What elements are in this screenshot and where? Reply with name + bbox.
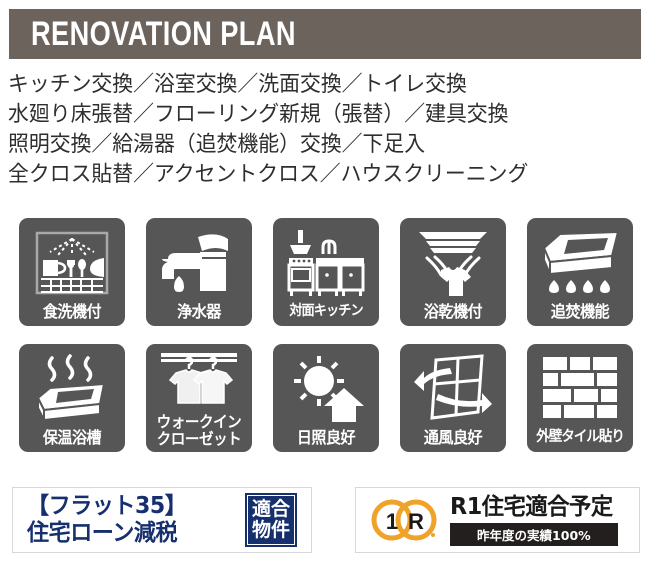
spec-line: 照明交換／給湯器（追焚機能）交換／下足入 [8,130,625,160]
exterior-tile-wall-icon [527,344,633,429]
r1-subtitle: 昨年度の実績100% [450,523,618,546]
flat35-eligible-badge: 適合 物件 [245,493,297,547]
r1-logo-icon: 1 R [370,498,442,542]
tile-label: 追焚機能 [531,303,629,326]
svg-text:R: R [408,509,424,534]
water-purifier-faucet-icon [146,218,252,303]
tile-label-line1: ウォークイン [150,414,248,431]
r1-text-block: R1住宅適合予定 昨年度の実績100% [450,494,618,546]
r1-banner: 1 R R1住宅適合予定 昨年度の実績100% [355,487,640,553]
feature-tile-exterior-wall: 外壁タイル貼り [517,344,644,452]
badge-line2: 物件 [252,520,290,541]
tile: 追焚機能 [527,218,633,326]
tile-label: 対面キッチン [277,303,375,326]
feature-tile-water-purifier: 浄水器 [135,218,262,326]
renovation-spec-list: キッチン交換／浴室交換／洗面交換／トイレ交換 水廻り床張替／フローリング新規（張… [8,70,644,190]
feature-tile-walk-in-closet: ウォークイン クローゼット [135,344,262,452]
tile: 日照良好 [273,344,379,452]
tile: 対面キッチン [273,218,379,326]
tile-label: ウォークイン クローゼット [150,414,248,452]
tile-label: 外壁タイル貼り [531,429,629,452]
page-title: RENOVATION PLAN [31,15,296,54]
bathtub-reheat-icon [527,218,633,303]
tile: 食洗機付 [19,218,125,326]
feature-icon-row: 食洗機付 浄水器 [8,218,644,326]
spec-line: キッチン交換／浴室交換／洗面交換／トイレ交換 [8,70,625,100]
walk-in-closet-icon [146,344,252,414]
bathroom-dryer-icon [400,218,506,303]
ventilation-window-icon [400,344,506,429]
insulated-bathtub-icon [19,344,125,429]
flat35-banner: 【フラット35】 住宅ローン減税 適合 物件 [12,487,312,553]
feature-tile-insulated-bathtub: 保温浴槽 [8,344,135,452]
flat35-text: 【フラット35】 住宅ローン減税 [27,493,186,547]
flat35-line1: 【フラット35】 [27,493,186,520]
feature-icon-row: 保温浴槽 [8,344,644,452]
flat35-line2: 住宅ローン減税 [27,520,186,547]
tile-label: 食洗機付 [23,303,121,326]
tile: 外壁タイル貼り [527,344,633,452]
feature-tile-ventilation: 通風良好 [390,344,517,452]
tile-label: 通風良好 [404,429,502,452]
tile: 通風良好 [400,344,506,452]
tile-label: 保温浴槽 [23,429,121,452]
tile: 保温浴槽 [19,344,125,452]
tile: ウォークイン クローゼット [146,344,252,452]
tile-label: 浴乾機付 [404,303,502,326]
tile-label: 日照良好 [277,429,375,452]
feature-tile-sunlight: 日照良好 [262,344,389,452]
tile-label-line2: クローゼット [150,431,248,448]
r1-title: R1住宅適合予定 [450,494,613,520]
sunlight-house-icon [273,344,379,429]
tile: 浴乾機付 [400,218,506,326]
open-kitchen-icon [273,218,379,303]
header-banner: RENOVATION PLAN [9,9,641,59]
tile-label: 浄水器 [150,303,248,326]
feature-tile-bathroom-dryer: 浴乾機付 [390,218,517,326]
badge-line1: 適合 [252,499,290,520]
feature-tile-reheat: 追焚機能 [517,218,644,326]
feature-tile-open-kitchen: 対面キッチン [262,218,389,326]
tile: 浄水器 [146,218,252,326]
svg-text:1: 1 [386,509,398,534]
feature-icon-grid: 食洗機付 浄水器 [8,218,644,452]
spec-line: 全クロス貼替／アクセントクロス／ハウスクリーニング [8,160,625,190]
spec-line: 水廻り床張替／フローリング新規（張替）／建具交換 [8,100,625,130]
dishwasher-icon [19,218,125,303]
feature-tile-dishwasher: 食洗機付 [8,218,135,326]
